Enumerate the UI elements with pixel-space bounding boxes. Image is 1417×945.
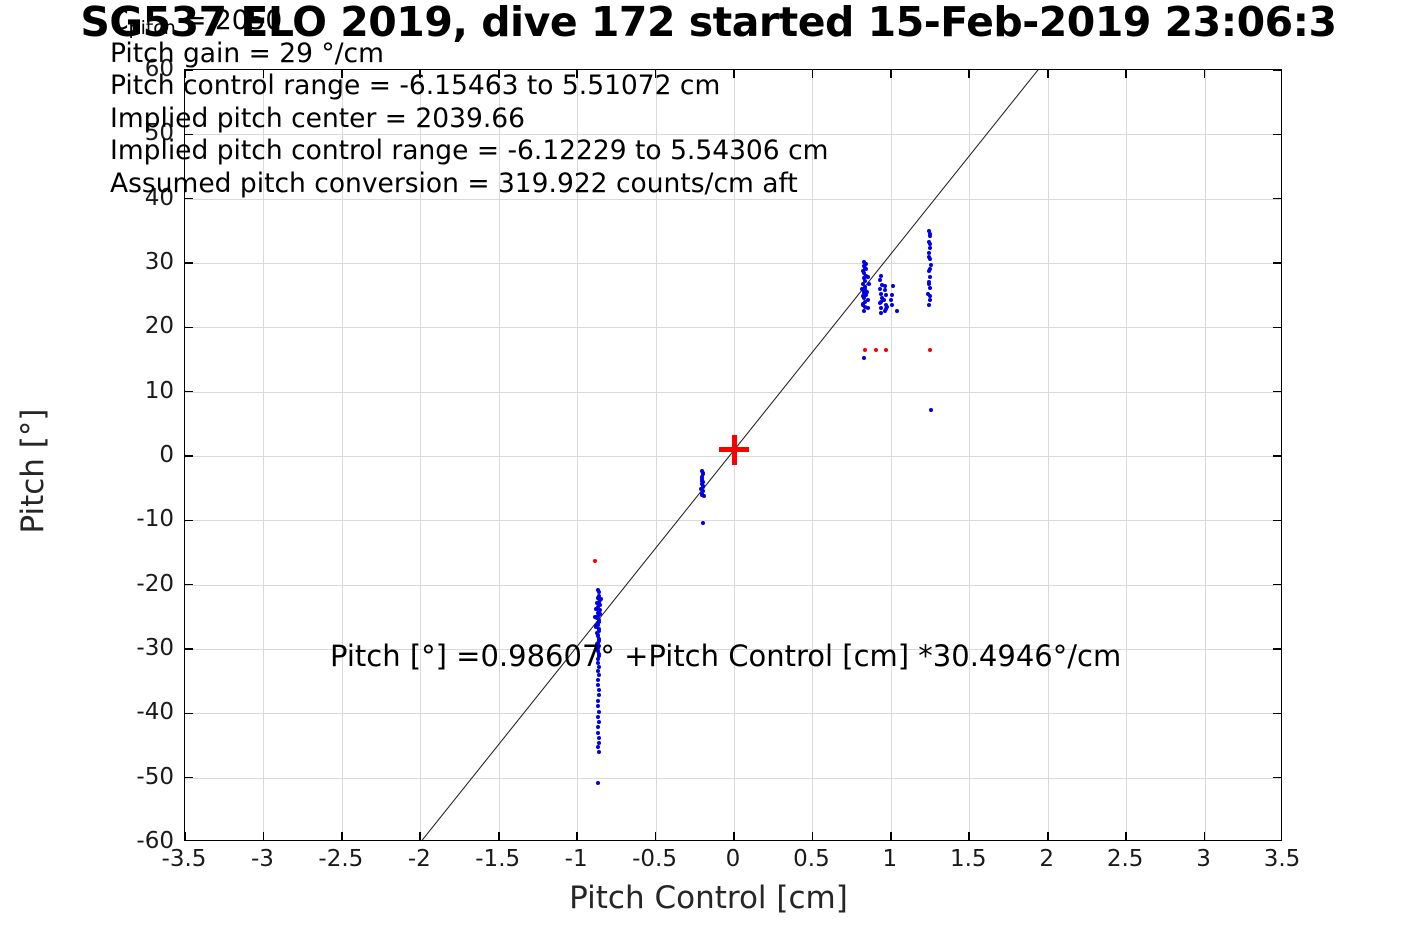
y-tick-label: 20 bbox=[145, 313, 174, 339]
gridline-vertical bbox=[1205, 70, 1206, 840]
data-point-included bbox=[596, 745, 600, 749]
x-tick bbox=[576, 69, 578, 78]
gridline-vertical bbox=[577, 70, 578, 840]
data-point-included bbox=[700, 493, 704, 497]
plot-area[interactable] bbox=[184, 69, 1282, 841]
data-point-included bbox=[596, 715, 600, 719]
data-point-included bbox=[928, 286, 932, 290]
data-point-included bbox=[596, 678, 600, 682]
x-tick bbox=[1047, 69, 1049, 78]
y-tick-label: 30 bbox=[145, 249, 174, 275]
gridline-horizontal bbox=[185, 585, 1281, 586]
x-tick bbox=[576, 832, 578, 841]
gridline-vertical bbox=[263, 70, 264, 840]
x-tick bbox=[733, 69, 735, 78]
y-tick-label: 40 bbox=[145, 185, 174, 211]
y-tick bbox=[184, 584, 193, 586]
x-tick bbox=[419, 69, 421, 78]
y-tick bbox=[1273, 198, 1282, 200]
x-tick bbox=[890, 69, 892, 78]
data-point-included bbox=[597, 688, 601, 692]
data-point-included bbox=[889, 298, 893, 302]
gridline-horizontal bbox=[185, 778, 1281, 779]
x-tick-label: -0.5 bbox=[632, 846, 677, 872]
x-tick-label: 0 bbox=[726, 846, 741, 872]
data-point-excluded bbox=[884, 348, 888, 352]
y-tick bbox=[184, 777, 193, 779]
data-point-included bbox=[865, 290, 869, 294]
y-tick-label: -30 bbox=[136, 635, 174, 661]
y-tick bbox=[1273, 391, 1282, 393]
data-point-included bbox=[929, 408, 933, 412]
gridline-vertical bbox=[969, 70, 970, 840]
y-tick bbox=[184, 455, 193, 457]
gridline-vertical bbox=[1126, 70, 1127, 840]
data-point-included bbox=[596, 731, 600, 735]
y-tick bbox=[1273, 713, 1282, 715]
y-tick bbox=[184, 198, 193, 200]
data-point-included bbox=[878, 287, 882, 291]
gridline-horizontal bbox=[185, 263, 1281, 264]
data-point-included bbox=[928, 242, 932, 246]
gridline-horizontal bbox=[185, 649, 1281, 650]
gridline-horizontal bbox=[185, 392, 1281, 393]
y-tick bbox=[184, 648, 193, 650]
y-tick bbox=[1273, 262, 1282, 264]
x-tick-label: 3 bbox=[1196, 846, 1211, 872]
gridline-horizontal bbox=[185, 713, 1281, 714]
x-tick-label: -1.5 bbox=[475, 846, 520, 872]
data-point-included bbox=[928, 275, 932, 279]
x-tick bbox=[263, 69, 265, 78]
x-tick bbox=[1047, 832, 1049, 841]
data-point-excluded bbox=[928, 348, 932, 352]
data-point-included bbox=[597, 741, 601, 745]
x-tick-label: 2.5 bbox=[1107, 846, 1144, 872]
x-tick bbox=[498, 832, 500, 841]
data-point-excluded bbox=[863, 348, 867, 352]
data-point-included bbox=[927, 303, 931, 307]
data-point-included bbox=[867, 282, 871, 286]
data-point-included bbox=[862, 356, 866, 360]
data-point-included bbox=[929, 263, 933, 267]
x-tick-label: 2 bbox=[1039, 846, 1054, 872]
data-point-included bbox=[596, 699, 600, 703]
figure-root: SG537 ELO 2019, dive 172 started 15-Feb-… bbox=[0, 0, 1417, 945]
x-tick bbox=[263, 832, 265, 841]
data-point-included bbox=[928, 246, 932, 250]
data-point-included bbox=[866, 275, 870, 279]
data-point-included bbox=[597, 750, 601, 754]
data-point-included bbox=[891, 284, 895, 288]
data-point-included bbox=[883, 288, 887, 292]
data-point-included bbox=[596, 781, 600, 785]
gridline-horizontal bbox=[185, 134, 1281, 135]
x-tick-label: -2.5 bbox=[318, 846, 363, 872]
gridline-vertical bbox=[420, 70, 421, 840]
figure-title: SG537 ELO 2019, dive 172 started 15-Feb-… bbox=[0, 0, 1417, 46]
x-tick bbox=[812, 832, 814, 841]
y-tick bbox=[184, 262, 193, 264]
data-point-included bbox=[599, 597, 603, 601]
x-tick bbox=[1204, 69, 1206, 78]
data-point-included bbox=[927, 282, 931, 286]
x-tick bbox=[1125, 832, 1127, 841]
data-point-excluded bbox=[593, 559, 597, 563]
x-tick bbox=[655, 832, 657, 841]
x-tick bbox=[1125, 69, 1127, 78]
data-point-included bbox=[597, 693, 601, 697]
data-point-included bbox=[701, 471, 705, 475]
y-tick bbox=[184, 391, 193, 393]
x-tick-label: -2 bbox=[408, 846, 431, 872]
y-tick-label: 0 bbox=[159, 442, 174, 468]
y-tick-label: 50 bbox=[145, 120, 174, 146]
y-tick bbox=[1273, 69, 1282, 71]
gridline-vertical bbox=[499, 70, 500, 840]
data-point-included bbox=[879, 292, 883, 296]
x-tick bbox=[184, 832, 186, 841]
x-tick-label: 1.5 bbox=[950, 846, 987, 872]
y-tick bbox=[184, 69, 193, 71]
y-tick bbox=[1273, 327, 1282, 329]
y-tick bbox=[1273, 455, 1282, 457]
data-point-included bbox=[884, 293, 888, 297]
x-tick bbox=[733, 832, 735, 841]
gridline-horizontal bbox=[185, 199, 1281, 200]
data-point-included bbox=[597, 673, 601, 677]
gridline-vertical bbox=[656, 70, 657, 840]
data-point-included bbox=[596, 669, 600, 673]
data-point-included bbox=[883, 284, 887, 288]
x-tick-label: -3.5 bbox=[162, 846, 207, 872]
y-tick bbox=[184, 134, 193, 136]
x-tick bbox=[968, 69, 970, 78]
y-tick bbox=[184, 520, 193, 522]
data-point-included bbox=[895, 309, 899, 313]
x-tick bbox=[1204, 832, 1206, 841]
data-point-included bbox=[596, 704, 600, 708]
y-tick bbox=[1273, 584, 1282, 586]
gridline-horizontal bbox=[185, 520, 1281, 521]
data-point-included bbox=[596, 725, 600, 729]
data-point-included bbox=[927, 255, 931, 259]
x-axis-label: Pitch Control [cm] bbox=[0, 880, 1417, 916]
data-point-included bbox=[701, 521, 705, 525]
x-tick-label: 0.5 bbox=[793, 846, 830, 872]
gridline-vertical bbox=[342, 70, 343, 840]
x-tick-label: -3 bbox=[251, 846, 274, 872]
data-point-included bbox=[928, 298, 932, 302]
y-tick bbox=[184, 327, 193, 329]
y-tick-label: -10 bbox=[136, 506, 174, 532]
data-point-included bbox=[890, 303, 894, 307]
gridline-vertical bbox=[1048, 70, 1049, 840]
x-tick-label: 1 bbox=[883, 846, 898, 872]
x-tick-label: -1 bbox=[565, 846, 588, 872]
y-tick-label: 60 bbox=[145, 56, 174, 82]
data-point-included bbox=[862, 309, 866, 313]
data-point-included bbox=[596, 588, 600, 592]
data-point-included bbox=[597, 736, 601, 740]
y-tick-label: -40 bbox=[136, 699, 174, 725]
x-tick bbox=[655, 69, 657, 78]
y-tick-label: 10 bbox=[145, 378, 174, 404]
data-point-included bbox=[701, 484, 705, 488]
data-point-included bbox=[879, 311, 883, 315]
y-tick bbox=[1273, 520, 1282, 522]
y-tick-label: -50 bbox=[136, 764, 174, 790]
y-axis-label: Pitch [°] bbox=[15, 271, 51, 671]
x-tick bbox=[498, 69, 500, 78]
data-point-included bbox=[864, 267, 868, 271]
data-point-included bbox=[879, 274, 883, 278]
data-point-included bbox=[878, 278, 882, 282]
y-tick bbox=[1273, 777, 1282, 779]
gridline-vertical bbox=[812, 70, 813, 840]
data-point-included bbox=[928, 267, 932, 271]
data-point-included bbox=[882, 298, 886, 302]
data-point-included bbox=[596, 683, 600, 687]
data-point-included bbox=[890, 293, 894, 297]
y-tick bbox=[1273, 648, 1282, 650]
data-point-included bbox=[884, 307, 888, 311]
x-tick bbox=[341, 832, 343, 841]
data-point-excluded bbox=[874, 348, 878, 352]
y-tick-label: -20 bbox=[136, 571, 174, 597]
x-tick bbox=[890, 832, 892, 841]
y-tick bbox=[184, 713, 193, 715]
data-point-included bbox=[597, 710, 601, 714]
data-point-included bbox=[862, 260, 866, 264]
gridline-vertical bbox=[891, 70, 892, 840]
data-point-included bbox=[866, 298, 870, 302]
data-point-included bbox=[866, 306, 870, 310]
x-tick bbox=[968, 832, 970, 841]
y-tick bbox=[1273, 134, 1282, 136]
x-tick bbox=[812, 69, 814, 78]
data-point-included bbox=[597, 720, 601, 724]
x-tick bbox=[341, 69, 343, 78]
gridline-horizontal bbox=[185, 327, 1281, 328]
x-tick-label: 3.5 bbox=[1264, 846, 1301, 872]
